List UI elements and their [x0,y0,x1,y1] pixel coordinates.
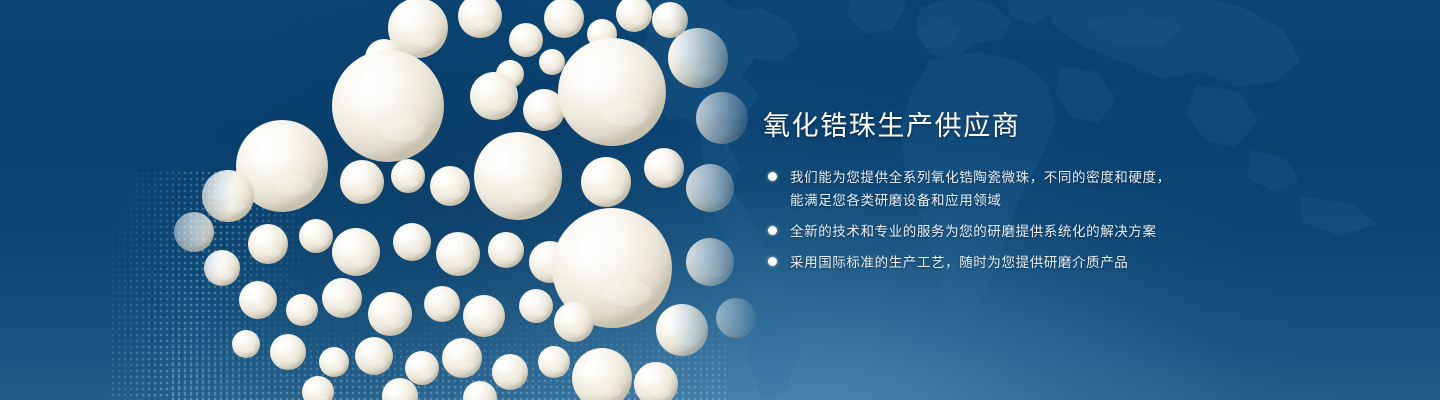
banner-copy: 氧化锆珠生产供应商 我们能为您提供全系列氧化锆陶瓷微珠，不同的密度和硬度， 能满… [763,108,1323,274]
list-item: 我们能为您提供全系列氧化锆陶瓷微珠，不同的密度和硬度， 能满足您各类研磨设备和应… [763,166,1323,212]
bullet-dot-icon [768,172,777,181]
hero-banner: 氧化锆珠生产供应商 我们能为您提供全系列氧化锆陶瓷微珠，不同的密度和硬度， 能满… [0,0,1440,400]
bullet-dot-icon [768,226,777,235]
feature-text-line: 能满足您各类研磨设备和应用领域 [790,189,1323,212]
feature-list: 我们能为您提供全系列氧化锆陶瓷微珠，不同的密度和硬度， 能满足您各类研磨设备和应… [763,166,1323,274]
zirconia-beads-image [150,0,770,400]
list-item: 采用国际标准的生产工艺，随时为您提供研磨介质产品 [763,251,1323,274]
list-item: 全新的技术和专业的服务为您的研磨提供系统化的解决方案 [763,220,1323,243]
feature-text-line: 全新的技术和专业的服务为您的研磨提供系统化的解决方案 [790,220,1323,243]
page-title: 氧化锆珠生产供应商 [763,108,1323,144]
feature-text-line: 我们能为您提供全系列氧化锆陶瓷微珠，不同的密度和硬度， [790,166,1323,189]
feature-text-line: 采用国际标准的生产工艺，随时为您提供研磨介质产品 [790,251,1323,274]
bullet-dot-icon [768,257,777,266]
